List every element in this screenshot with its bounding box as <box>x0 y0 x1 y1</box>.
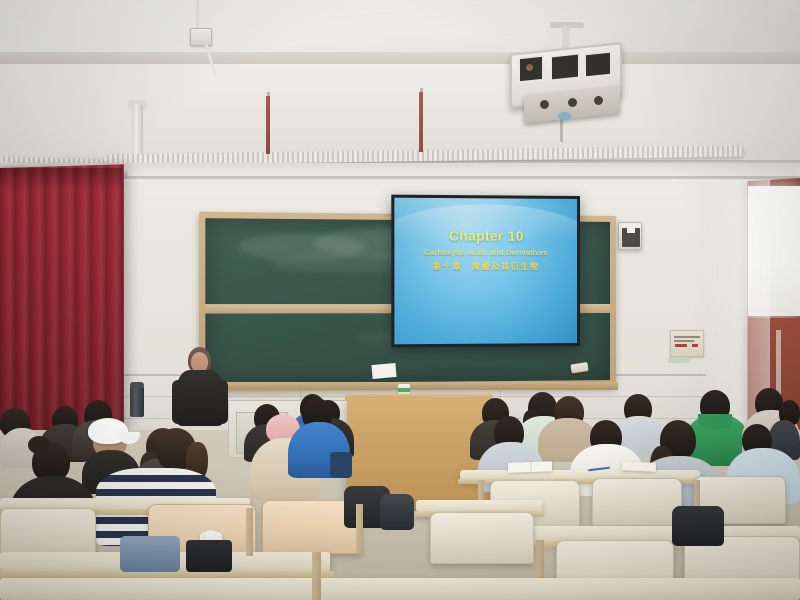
chalkboard-ledge <box>212 382 618 390</box>
ceiling-wire <box>196 0 199 30</box>
notice-line <box>674 340 694 342</box>
projector-stem <box>562 26 570 48</box>
projector-bolt <box>594 96 603 105</box>
ceiling-projector <box>510 40 628 112</box>
hoodie-shadow <box>330 452 352 478</box>
notice-accent <box>692 344 698 347</box>
projector-vent <box>550 52 580 81</box>
hair-bun <box>28 436 50 454</box>
desk-leg <box>312 552 321 600</box>
projector-knob <box>526 64 533 71</box>
wall-top-strip <box>96 163 800 177</box>
cup-band <box>398 388 410 392</box>
notice-clip <box>668 358 690 363</box>
window-curtain[interactable] <box>0 164 124 433</box>
teacher-arm-right <box>216 380 228 424</box>
chair-back <box>592 478 682 526</box>
hood-shape <box>698 414 732 430</box>
screen-glow <box>394 198 577 345</box>
thermos-cap <box>130 382 144 388</box>
desk-surface <box>0 578 800 600</box>
classroom-photo: Chapter 10 Carboxylic acids and Derivati… <box>0 0 800 600</box>
ceiling-upper <box>0 0 800 58</box>
projector-vent <box>584 51 612 79</box>
chair-back <box>430 512 534 564</box>
notice-line <box>674 336 700 338</box>
wall-rail <box>96 176 800 179</box>
backpack <box>672 506 724 546</box>
desk-leg <box>356 504 363 554</box>
open-textbook <box>622 461 656 472</box>
denim-item <box>120 536 180 572</box>
projector-bolt <box>540 100 549 109</box>
thermos <box>130 385 144 417</box>
hanger-rod-red <box>419 92 423 152</box>
curtain-shadow <box>0 168 122 190</box>
book-spine <box>530 462 532 472</box>
junction-box-icon <box>190 28 212 46</box>
door-glass <box>748 186 800 316</box>
desk-leg <box>246 508 253 556</box>
projection-screen-surface: Chapter 10 Carboxylic acids and Derivati… <box>394 198 577 345</box>
backpack <box>380 494 414 530</box>
teacher-face <box>191 352 208 372</box>
drop-pipe <box>132 104 143 156</box>
speaker-notch <box>627 228 635 233</box>
teacher-arm-left <box>172 380 184 424</box>
hanger-rod-red <box>266 96 270 154</box>
wall-speaker-icon <box>618 222 642 250</box>
projector-lens-icon <box>558 112 571 120</box>
projection-screen: Chapter 10 Carboxylic acids and Derivati… <box>391 195 580 348</box>
paper-sheet <box>371 363 396 379</box>
bag <box>186 540 232 572</box>
notice-accent <box>675 344 687 347</box>
projector-bolt <box>568 98 577 107</box>
